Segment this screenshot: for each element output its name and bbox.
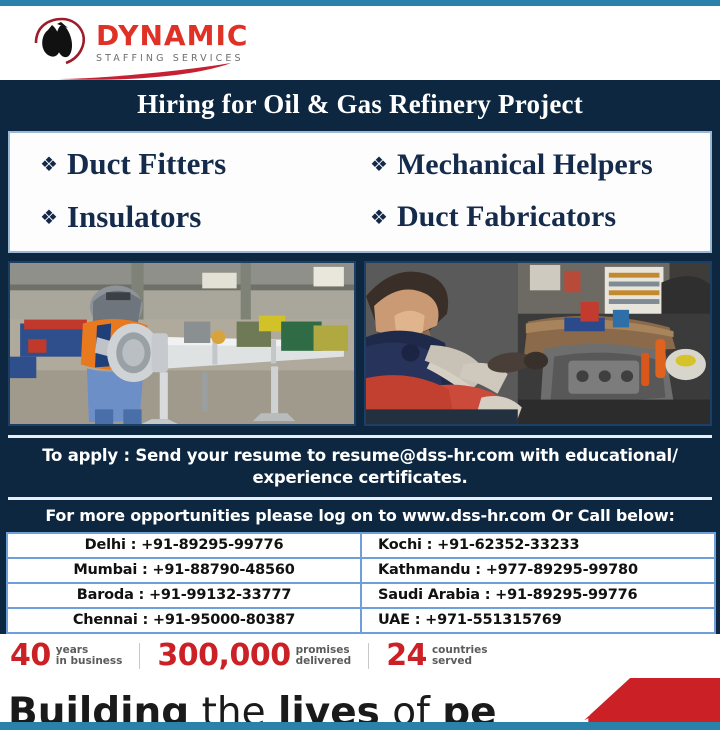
contact-uae: UAE : +971-551315769 — [361, 608, 715, 633]
apply-instructions: To apply : Send your resume to resume@ds… — [0, 438, 720, 498]
contact-kathmandu: Kathmandu : +977-89295-99780 — [361, 558, 715, 583]
job-item-mechanical-helpers: ❖ Mechanical Helpers — [360, 145, 710, 184]
job-label: Duct Fitters — [67, 145, 226, 184]
contacts-table: Delhi : +91-89295-99776 Kochi : +91-6235… — [6, 532, 716, 634]
stat-label: years in business — [56, 645, 123, 668]
diamond-bullet-icon: ❖ — [370, 207, 388, 227]
diamond-bullet-icon: ❖ — [40, 207, 58, 227]
contact-saudi-arabia: Saudi Arabia : +91-89295-99776 — [361, 583, 715, 608]
job-label: Mechanical Helpers — [397, 146, 653, 184]
logo-wordmark: DYNAMIC STAFFING SERVICES — [96, 22, 248, 64]
stat-number: 40 — [10, 641, 51, 671]
page-title: Hiring for Oil & Gas Refinery Project — [0, 80, 720, 131]
job-label: Duct Fabricators — [397, 198, 616, 236]
logo-header: DYNAMIC STAFFING SERVICES — [0, 6, 720, 80]
job-row-2: ❖ Insulators ❖ Duct Fabricators — [10, 198, 710, 237]
stat-number: 24 — [386, 641, 427, 671]
stat-years-in-business: 40 years in business — [10, 641, 122, 671]
photo-gallery — [8, 261, 712, 426]
contact-delhi: Delhi : +91-89295-99776 — [7, 533, 361, 558]
stat-label-line1: countries — [432, 644, 488, 656]
job-label: Insulators — [67, 198, 201, 237]
job-item-duct-fabricators: ❖ Duct Fabricators — [360, 198, 710, 237]
contact-chennai: Chennai : +91-95000-80387 — [7, 608, 361, 633]
stat-promises-delivered: 300,000 promises delivered — [157, 641, 351, 671]
stat-number: 300,000 — [157, 641, 290, 671]
company-stats-bar: 40 years in business 300,000 promises de… — [0, 634, 720, 678]
footer-tagline-bar: Building the lives of people — [0, 678, 720, 730]
stat-divider — [368, 643, 369, 669]
brand-name: DYNAMIC — [96, 22, 248, 50]
red-wedge-shape — [580, 678, 720, 724]
contact-baroda: Baroda : +91-99132-33777 — [7, 583, 361, 608]
contact-mumbai: Mumbai : +91-88790-48560 — [7, 558, 361, 583]
job-titles-panel: ❖ Duct Fitters ❖ Mechanical Helpers ❖ In… — [8, 131, 712, 253]
job-item-duct-fitters: ❖ Duct Fitters — [10, 145, 360, 184]
bottom-accent-strip — [0, 722, 720, 730]
contact-kochi: Kochi : +91-62352-33233 — [361, 533, 715, 558]
poster-body: Hiring for Oil & Gas Refinery Project ❖ … — [0, 80, 720, 634]
diamond-bullet-icon: ❖ — [370, 154, 388, 174]
job-item-insulators: ❖ Insulators — [10, 198, 360, 237]
worker-welding-duct-pipe-photo — [8, 261, 356, 426]
stat-label-line1: promises — [296, 644, 350, 656]
mechanic-working-on-engine-photo — [364, 261, 712, 426]
stat-label-line2: in business — [56, 655, 123, 667]
stat-label: promises delivered — [296, 645, 352, 668]
stat-label-line2: delivered — [296, 655, 352, 667]
table-row: Baroda : +91-99132-33777 Saudi Arabia : … — [7, 583, 715, 608]
stat-countries-served: 24 countries served — [386, 641, 487, 671]
table-row: Mumbai : +91-88790-48560 Kathmandu : +97… — [7, 558, 715, 583]
stat-label: countries served — [432, 645, 488, 668]
job-row-1: ❖ Duct Fitters ❖ Mechanical Helpers — [10, 145, 710, 184]
diamond-bullet-icon: ❖ — [40, 154, 58, 174]
stat-divider — [139, 643, 140, 669]
more-opportunities-text: For more opportunities please log on to … — [0, 500, 720, 532]
stat-label-line1: years — [56, 644, 88, 656]
stat-label-line2: served — [432, 655, 472, 667]
table-row: Chennai : +91-95000-80387 UAE : +971-551… — [7, 608, 715, 633]
recruitment-poster: DYNAMIC STAFFING SERVICES Hiring for Oil… — [0, 0, 720, 720]
table-row: Delhi : +91-89295-99776 Kochi : +91-6235… — [7, 533, 715, 558]
logo-swoosh-icon — [56, 62, 236, 82]
